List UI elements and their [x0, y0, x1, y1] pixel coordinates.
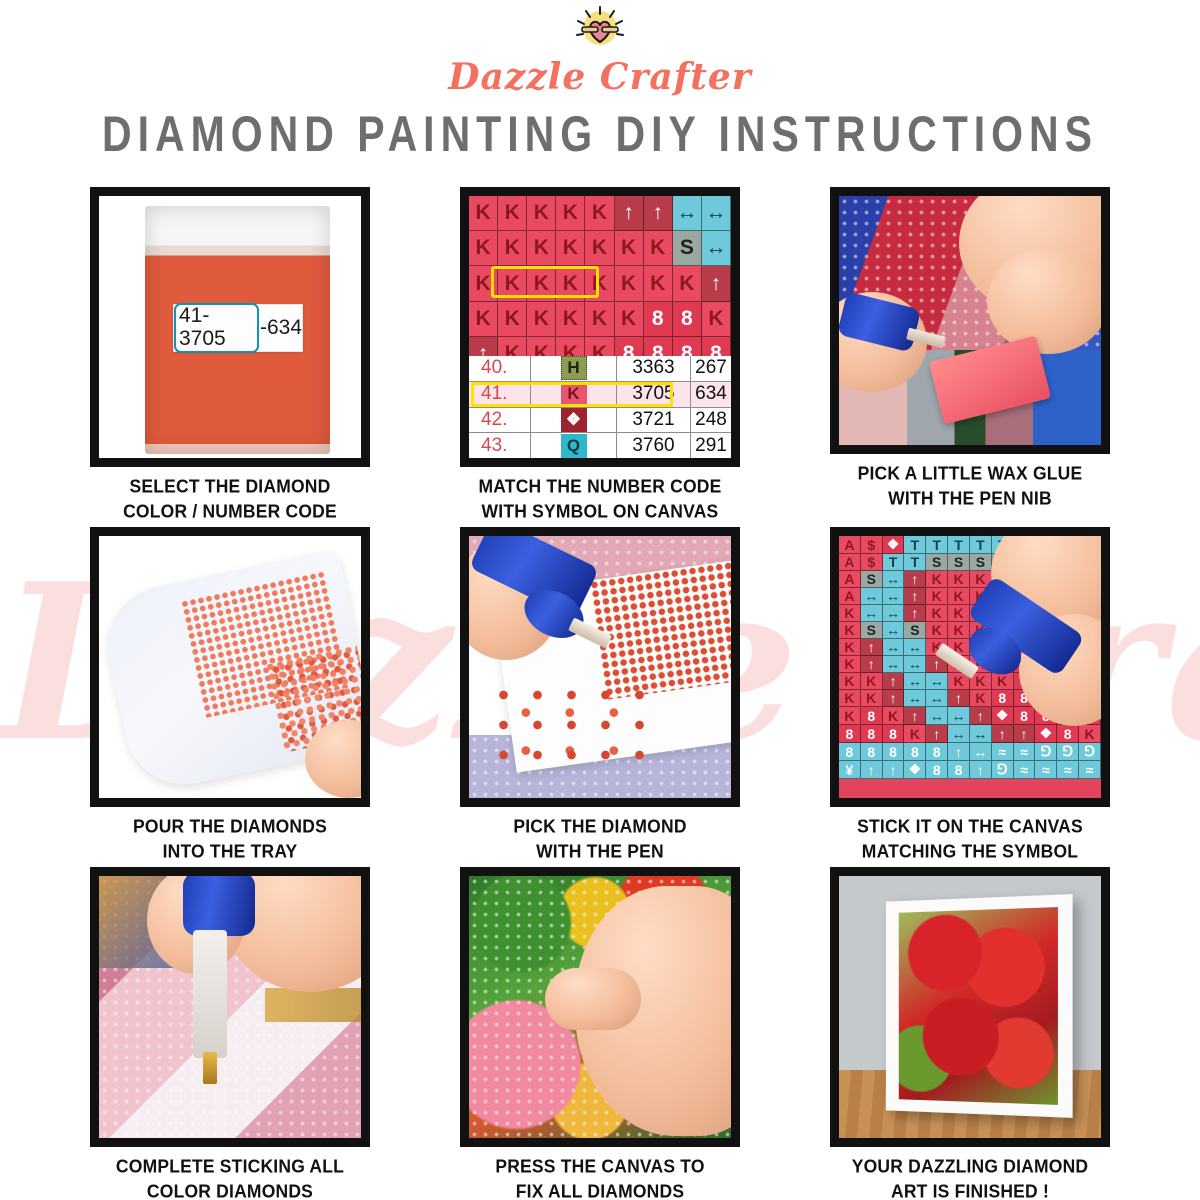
symbol-cell: S [904, 622, 926, 639]
step-4-image-frame [90, 527, 370, 807]
legend-code: 3705 [617, 382, 691, 407]
step-2-image-frame: K K K K K ↑ ↑ ↔ ↔ K K [460, 187, 740, 467]
step-2-caption-line1: MATCH THE NUMBER CODE [478, 474, 721, 499]
symbol-cell: K [948, 588, 970, 605]
symbol-cell: ↑ [904, 588, 926, 605]
symbol-cell: ↔ [883, 622, 905, 639]
symbol-cell: ≈ [992, 743, 1014, 761]
canvas-cell: 8 [644, 302, 673, 337]
page-title: DIAMOND PAINTING DIY INSTRUCTIONS [0, 106, 1200, 163]
symbol-cell: 8 [1057, 725, 1079, 743]
symbol-row: 888K↑↔↔↑↑❖8K [839, 725, 1101, 743]
symbol-cell: S [970, 554, 992, 571]
symbol-cell: ↑ [970, 761, 992, 779]
legend-no: 42. [469, 408, 531, 433]
symbol-cell: K [839, 690, 861, 707]
tray-photo [99, 536, 361, 798]
symbol-cell: ↑ [883, 673, 905, 690]
canvas-cell: K [673, 266, 702, 301]
symbol-cell: K [883, 707, 905, 725]
step-4-caption: POUR THE DIAMONDS INTO THE TRAY [133, 814, 327, 864]
legend-count: 248 [691, 408, 731, 433]
symbol-cell: ⅁ [992, 761, 1014, 779]
symbol-cell: ↑ [861, 656, 883, 673]
symbol-cell: K [948, 571, 970, 588]
symbol-cell: ↔ [904, 656, 926, 673]
symbol-cell: ↔ [861, 605, 883, 622]
symbol-cell: 8 [883, 743, 905, 761]
canvas-cell: K [556, 231, 585, 266]
symbol-cell: S [926, 554, 948, 571]
legend-row: 40. H 3363 267 [469, 356, 731, 382]
canvas-cell: 8 [673, 302, 702, 337]
symbol-cell: ↑ [992, 725, 1014, 743]
symbol-cell: ↔ [926, 707, 948, 725]
canvas-cell: K [527, 302, 556, 337]
symbol-cell: ↔ [970, 725, 992, 743]
canvas-cell: K [585, 302, 614, 337]
symbol-row: ¥↑↑❖88↑⅁≈≈≈≈ [839, 761, 1101, 779]
symbol-cell: 8 [839, 725, 861, 743]
canvas-cell: K [498, 196, 527, 231]
symbol-cell: K [926, 622, 948, 639]
canvas-cell: ↔ [702, 196, 731, 231]
symbol-cell: ↑ [861, 761, 883, 779]
bag-code: 41-3705-634 [174, 303, 302, 352]
symbol-cell: K [861, 690, 883, 707]
canvas-cell: K [469, 302, 498, 337]
step-4-caption-line1: POUR THE DIAMONDS [133, 814, 327, 839]
diamond-bag: 41-3705-634 [145, 206, 330, 454]
step-9-caption: YOUR DAZZLING DIAMOND ART IS FINISHED ! [852, 1154, 1089, 1200]
steps-grid: 41-3705-634 SELECT THE DIAMOND COLOR / N… [0, 187, 1200, 1200]
symbol-chip: H [561, 356, 587, 380]
symbol-cell: K [948, 605, 970, 622]
symbol-cell: ⅁ [1035, 743, 1057, 761]
canvas-cell: ↔ [702, 231, 731, 266]
step-7-caption-line1: COMPLETE STICKING ALL [116, 1154, 344, 1179]
symbol-cell: ↔ [883, 588, 905, 605]
step-3-image-frame [830, 187, 1110, 454]
legend-code: 3760 [617, 433, 691, 458]
canvas-cell: ↑ [702, 266, 731, 301]
symbol-cell: K [839, 673, 861, 690]
symbol-cell: ↔ [883, 639, 905, 656]
canvas-cell: K [615, 266, 644, 301]
bag-code-highlight: 41-3705 [174, 303, 259, 352]
symbol-cell: $ [861, 554, 883, 571]
step-3: PICK A LITTLE WAX GLUE WITH THE PEN NIB [800, 187, 1140, 527]
step-6-caption-line2: MATCHING THE SYMBOL [857, 839, 1083, 864]
step-9-caption-line2: ART IS FINISHED ! [852, 1179, 1089, 1200]
symbol-cell: 8 [861, 707, 883, 725]
legend-no: 40. [469, 356, 531, 381]
symbol-cell: ↔ [926, 690, 948, 707]
symbol-cell: ≈ [1035, 761, 1057, 779]
canvas-cell: ↑ [615, 196, 644, 231]
step-8: PRESS THE CANVAS TO FIX ALL DIAMONDS [430, 867, 770, 1200]
legend-row: 43. Q 3760 291 [469, 433, 731, 458]
step-1-caption-line2: COLOR / NUMBER CODE [123, 499, 337, 524]
symbol-cell: ↔ [861, 588, 883, 605]
symbol-cell: 8 [839, 743, 861, 761]
symbol-cell: ↑ [926, 725, 948, 743]
symbol-cell: ↔ [948, 725, 970, 743]
symbol-cell: ¥ [839, 761, 861, 779]
symbol-cell: K [926, 605, 948, 622]
legend-symbol: K [531, 382, 617, 407]
canvas-row: K K K K K K K K ↑ [469, 266, 731, 301]
legend-row-highlighted: 41. K 3705 634 [469, 382, 731, 408]
canvas-cell: K [469, 231, 498, 266]
brand-name: Dazzle Crafter [0, 56, 1200, 98]
canvas-cell: K [615, 302, 644, 337]
symbol-cell: K [992, 673, 1014, 690]
symbol-cell: ↑ [904, 605, 926, 622]
symbol-cell: T [883, 554, 905, 571]
step-5-image-frame [460, 527, 740, 807]
bag-label: 41-3705-634 [173, 304, 303, 352]
bag-code-tail: -634 [259, 316, 302, 340]
canvas-cell: ↑ [644, 196, 673, 231]
symbol-cell: ❖ [883, 536, 905, 554]
symbol-cell: 8 [948, 761, 970, 779]
symbol-cell: S [861, 622, 883, 639]
step-8-caption-line2: FIX ALL DIAMONDS [495, 1179, 704, 1200]
symbol-cell: T [948, 536, 970, 554]
symbol-cell: ↔ [883, 656, 905, 673]
canvas-cell: K [585, 266, 614, 301]
step-7: COMPLETE STICKING ALL COLOR DIAMONDS [60, 867, 400, 1200]
symbol-cell: T [904, 554, 926, 571]
symbol-cell: ❖ [1035, 725, 1057, 743]
legend-code: 3363 [617, 356, 691, 381]
step-6-caption: STICK IT ON THE CANVAS MATCHING THE SYMB… [857, 814, 1083, 864]
step-7-image-frame [90, 867, 370, 1147]
step-6-caption-line1: STICK IT ON THE CANVAS [857, 814, 1083, 839]
symbol-cell: 8 [926, 743, 948, 761]
step-1: 41-3705-634 SELECT THE DIAMOND COLOR / N… [60, 187, 400, 527]
step-6-image-frame: A$❖TTTTTT↑KKA$TTSSSS↔↔SKAS↔↑KKKK↑↔↔KA↔↔↑… [830, 527, 1110, 807]
legend-count: 267 [691, 356, 731, 381]
symbol-cell: ↔ [904, 639, 926, 656]
white-picture-frame [886, 894, 1073, 1118]
symbol-cell: 8 [861, 743, 883, 761]
step-5-caption-line1: PICK THE DIAMOND [513, 814, 686, 839]
symbol-row: 88888↑↔≈≈⅁⅁⅁ [839, 743, 1101, 761]
legend-symbol: ❖ [531, 408, 617, 433]
symbol-cell: ↑ [948, 743, 970, 761]
symbol-cell: ≈ [1079, 761, 1101, 779]
step-3-caption-line2: WITH THE PEN NIB [858, 486, 1083, 511]
symbol-cell: T [970, 536, 992, 554]
symbol-cell: ⅁ [1079, 743, 1101, 761]
legend-table: 40. H 3363 267 41. K 3705 634 42. [469, 356, 731, 458]
pick-diamond-photo [469, 536, 731, 798]
step-1-image-frame: 41-3705-634 [90, 187, 370, 467]
symbol-chip: K [561, 382, 587, 406]
legend-count: 291 [691, 433, 731, 458]
symbol-cell: ≈ [1057, 761, 1079, 779]
symbol-cell: 8 [926, 761, 948, 779]
canvas-row: K K K K K ↑ ↑ ↔ ↔ [469, 196, 731, 231]
symbol-cell: K [926, 588, 948, 605]
symbol-cell: A [839, 588, 861, 605]
canvas-gold-band [265, 988, 361, 1022]
symbol-cell: 8 [883, 725, 905, 743]
loose-red-diamonds [495, 686, 645, 776]
legend-count: 634 [691, 382, 731, 407]
canvas-cell: S [673, 231, 702, 266]
step-9-image-frame [830, 867, 1110, 1147]
symbol-cell: K [926, 571, 948, 588]
symbol-cell: 8 [992, 690, 1014, 707]
step-5-caption: PICK THE DIAMOND WITH THE PEN [513, 814, 686, 864]
thumb [987, 248, 1101, 354]
symbol-cell: ↑ [1014, 725, 1036, 743]
canvas-symbol-grid: K K K K K ↑ ↑ ↔ ↔ K K [469, 196, 731, 372]
canvas-cell: K [556, 196, 585, 231]
canvas-cell: K [527, 231, 556, 266]
canvas-cell: K [469, 266, 498, 301]
press-canvas-photo [469, 876, 731, 1138]
aligned-red-diamonds [589, 560, 731, 700]
legend-code: 3721 [617, 408, 691, 433]
symbol-cell: ↑ [883, 761, 905, 779]
legend-symbol: Q [531, 433, 617, 458]
canvas-cell: K [527, 196, 556, 231]
canvas-cell: K [585, 231, 614, 266]
canvas-chart-photo: K K K K K ↑ ↑ ↔ ↔ K K [469, 196, 731, 458]
symbol-cell: 8 [861, 725, 883, 743]
step-4-caption-line2: INTO THE TRAY [133, 839, 327, 864]
step-6: A$❖TTTTTT↑KKA$TTSSSS↔↔SKAS↔↑KKKK↑↔↔KA↔↔↑… [800, 527, 1140, 867]
canvas-cell: K [644, 231, 673, 266]
canvas-cell: K [615, 231, 644, 266]
finished-art-photo [839, 876, 1101, 1138]
symbol-cell: A [839, 554, 861, 571]
pen-grip [183, 876, 255, 936]
step-1-caption-line1: SELECT THE DIAMOND [123, 474, 337, 499]
symbol-cell: S [861, 571, 883, 588]
symbol-cell: K [1079, 725, 1101, 743]
step-1-caption: SELECT THE DIAMOND COLOR / NUMBER CODE [123, 474, 337, 524]
canvas-cell: K [585, 196, 614, 231]
symbol-cell: K [839, 622, 861, 639]
legend-no: 41. [469, 382, 531, 407]
symbol-cell: K [904, 725, 926, 743]
legend-no: 43. [469, 433, 531, 458]
symbol-cell: ≈ [1014, 743, 1036, 761]
symbol-cell: ↑ [948, 690, 970, 707]
symbol-cell: K [839, 656, 861, 673]
canvas-cell: ↔ [673, 196, 702, 231]
step-2: K K K K K ↑ ↑ ↔ ↔ K K [430, 187, 770, 527]
completed-canvas-photo [99, 876, 361, 1138]
step-2-caption: MATCH THE NUMBER CODE WITH SYMBOL ON CAN… [478, 474, 721, 524]
step-2-caption-line2: WITH SYMBOL ON CANVAS [478, 499, 721, 524]
canvas-row: K K K K K K K S ↔ [469, 231, 731, 266]
legend-symbol: H [531, 356, 617, 381]
canvas-cell: K [498, 231, 527, 266]
canvas-cell: K [527, 266, 556, 301]
step-5-caption-line2: WITH THE PEN [513, 839, 686, 864]
symbol-cell: A [839, 571, 861, 588]
symbol-chip: ❖ [561, 408, 587, 432]
symbol-cell: T [926, 536, 948, 554]
finger [545, 968, 641, 1030]
step-7-caption: COMPLETE STICKING ALL COLOR DIAMONDS [116, 1154, 344, 1200]
symbol-cell: ↔ [883, 571, 905, 588]
symbol-cell: K [970, 690, 992, 707]
step-7-caption-line2: COLOR DIAMONDS [116, 1179, 344, 1200]
symbol-cell: A [839, 536, 861, 554]
step-4: POUR THE DIAMONDS INTO THE TRAY [60, 527, 400, 867]
symbol-cell: ↔ [904, 673, 926, 690]
step-9-caption-line1: YOUR DAZZLING DIAMOND [852, 1154, 1089, 1179]
symbol-cell: ↑ [904, 571, 926, 588]
canvas-cell: K [556, 302, 585, 337]
pen-nib [203, 1052, 217, 1084]
symbol-cell: ↔ [970, 743, 992, 761]
canvas-cell: K [702, 302, 731, 337]
symbol-cell: ↑ [970, 707, 992, 725]
step-8-caption: PRESS THE CANVAS TO FIX ALL DIAMONDS [495, 1154, 704, 1200]
symbol-cell: ↑ [904, 707, 926, 725]
step-3-caption: PICK A LITTLE WAX GLUE WITH THE PEN NIB [858, 461, 1083, 511]
step-8-image-frame [460, 867, 740, 1147]
symbol-cell: ❖ [904, 761, 926, 779]
canvas-cell: K [498, 302, 527, 337]
symbol-cell: ↔ [904, 690, 926, 707]
header: Dazzle Crafter DIAMOND PAINTING DIY INST… [0, 0, 1200, 153]
symbol-cell: K [948, 622, 970, 639]
symbol-cell: $ [861, 536, 883, 554]
symbol-cell: K [861, 673, 883, 690]
symbol-cell: 8 [1014, 707, 1036, 725]
canvas-row: K K K K K K 8 8 K [469, 302, 731, 337]
canvas-cell: K [556, 266, 585, 301]
heart-pen-sunburst-icon [568, 6, 632, 58]
symbol-cell: K [839, 639, 861, 656]
symbol-cell: ≈ [1014, 761, 1036, 779]
canvas-cell: K [469, 196, 498, 231]
symbol-cell: ❖ [992, 707, 1014, 725]
symbol-chip: Q [561, 434, 587, 458]
symbol-cell: S [948, 554, 970, 571]
infographic-page: Dazzle Crafter Dazzle Crafter DIAMOND PA… [0, 0, 1200, 1200]
step-9: YOUR DAZZLING DIAMOND ART IS FINISHED ! [800, 867, 1140, 1200]
symbol-cell: ⅁ [1057, 743, 1079, 761]
step-5: PICK THE DIAMOND WITH THE PEN [430, 527, 770, 867]
step-8-caption-line1: PRESS THE CANVAS TO [495, 1154, 704, 1179]
wax-glue-photo [839, 196, 1101, 445]
poppy-diamond-artwork [899, 907, 1058, 1105]
symbol-cell: ↔ [883, 605, 905, 622]
step-3-caption-line1: PICK A LITTLE WAX GLUE [858, 461, 1083, 486]
symbol-cell: K [839, 605, 861, 622]
symbol-cell: 8 [904, 743, 926, 761]
symbol-cell: T [904, 536, 926, 554]
symbol-cell: ↑ [861, 639, 883, 656]
pen-barrel [193, 930, 227, 1058]
symbol-cell: K [839, 707, 861, 725]
bag-of-diamonds-photo: 41-3705-634 [99, 196, 361, 458]
symbol-cell: ↔ [948, 707, 970, 725]
symbol-chart-photo: A$❖TTTTTT↑KKA$TTSSSS↔↔SKAS↔↑KKKK↑↔↔KA↔↔↑… [839, 536, 1101, 798]
legend-row: 42. ❖ 3721 248 [469, 408, 731, 434]
canvas-cell: K [644, 266, 673, 301]
canvas-cell: K [498, 266, 527, 301]
symbol-cell: ↔ [926, 673, 948, 690]
symbol-cell: ↑ [883, 690, 905, 707]
